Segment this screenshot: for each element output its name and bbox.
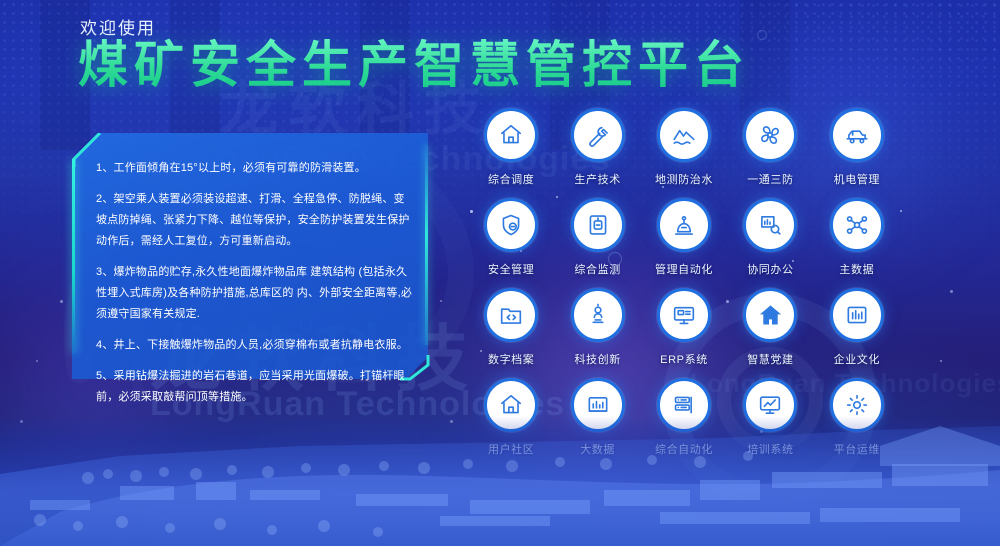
home-icon[interactable] [484,108,538,162]
node-network-icon[interactable] [830,198,884,252]
gear-icon[interactable] [830,378,884,432]
module-tile-1[interactable]: 综合调度 [468,108,554,187]
module-tile-label: 平台运维 [834,441,880,457]
welcome-label: 欢迎使用 [80,14,156,39]
screen-trend-icon[interactable] [743,378,797,432]
home-icon[interactable] [484,378,538,432]
module-tile-label: 培训系统 [747,441,793,457]
module-tile-label: 机电管理 [834,171,880,187]
module-tile-label: 用户社区 [488,441,534,457]
document-chart-icon[interactable] [743,198,797,252]
idea-person-icon[interactable] [571,288,625,342]
module-tile-label: ERP系统 [660,351,708,367]
desktop-icon[interactable] [657,288,711,342]
notice-item: 3、爆炸物品的贮存,永久性地面爆炸物品库 建筑结构 (包括永久性埋入式库房)及各… [96,262,414,325]
house-solid-icon[interactable] [743,288,797,342]
module-tile-label: 数字档案 [488,351,534,367]
module-tile-5[interactable]: 机电管理 [814,108,900,187]
chart-board-icon[interactable] [571,378,625,432]
module-tile-label: 一通三防 [747,171,793,187]
module-tile-label: 管理自动化 [655,261,713,277]
module-tile-label: 大数据 [580,441,615,457]
dashboard-screen: 龙软科技 LongRuan Technologies LongRuan Tech… [0,0,1000,546]
module-tile-16[interactable]: 用户社区 [468,378,554,457]
module-tile-9[interactable]: 协同办公 [727,198,813,277]
module-tile-18[interactable]: 综合自动化 [641,378,727,457]
notice-list: 1、工作面倾角在15°以上时，必须有可靠的防滑装置。 2、架空乘人装置必须装设超… [96,158,414,364]
module-tile-2[interactable]: 生产技术 [554,108,640,187]
module-tile-12[interactable]: 科技创新 [554,288,640,367]
alarm-lamp-icon[interactable] [657,198,711,252]
code-folder-icon[interactable] [484,288,538,342]
module-tile-10[interactable]: 主数据 [814,198,900,277]
module-tile-6[interactable]: 安全管理 [468,198,554,277]
module-tile-3[interactable]: 地测防治水 [641,108,727,187]
panel-left-accent-bar [72,159,75,353]
notice-item: 4、井上、下接触爆炸物品的人员,必须穿棉布或者抗静电衣服。 [96,335,414,356]
fan-icon[interactable] [743,108,797,162]
module-tile-11[interactable]: 数字档案 [468,288,554,367]
bar-chart-icon[interactable] [830,288,884,342]
wrench-icon[interactable] [571,108,625,162]
module-tile-label: 企业文化 [834,351,880,367]
module-tile-17[interactable]: 大数据 [554,378,640,457]
mountain-water-icon[interactable] [657,108,711,162]
module-tile-20[interactable]: 平台运维 [814,378,900,457]
module-tile-label: 综合监测 [574,261,620,277]
page-title: 煤矿安全生产智慧管控平台 [78,38,750,92]
module-tile-label: 主数据 [839,261,874,277]
module-tile-8[interactable]: 管理自动化 [641,198,727,277]
module-tile-4[interactable]: 一通三防 [727,108,813,187]
shield-icon[interactable] [484,198,538,252]
module-tile-label: 生产技术 [574,171,620,187]
notice-item: 2、架空乘人装置必须装设超速、打滑、全程急停、防脱绳、变坡点防掉绳、张紧力下降、… [96,189,414,252]
module-tile-label: 协同办公 [747,261,793,277]
module-tile-label: 科技创新 [574,351,620,367]
module-tile-13[interactable]: ERP系统 [641,288,727,367]
module-icon-grid: 综合调度生产技术地测防治水一通三防机电管理安全管理综合监测管理自动化协同办公主数… [468,108,900,457]
module-tile-7[interactable]: 综合监测 [554,198,640,277]
module-tile-label: 安全管理 [488,261,534,277]
server-icon[interactable] [657,378,711,432]
monitor-sensor-icon[interactable] [571,198,625,252]
module-tile-label: 地测防治水 [655,171,713,187]
notice-item: 5、采用钻爆法掘进的岩石巷道，应当采用光面爆破。打锚杆眼前，必须采取敲帮问顶等措… [96,366,414,408]
module-tile-label: 智慧党建 [747,351,793,367]
module-tile-label: 综合自动化 [655,441,713,457]
module-tile-label: 综合调度 [488,171,534,187]
module-tile-19[interactable]: 培训系统 [727,378,813,457]
machine-icon[interactable] [830,108,884,162]
module-tile-15[interactable]: 企业文化 [814,288,900,367]
notice-item: 1、工作面倾角在15°以上时，必须有可靠的防滑装置。 [96,158,414,179]
panel-right-accent-bar [425,145,428,345]
module-tile-14[interactable]: 智慧党建 [727,288,813,367]
